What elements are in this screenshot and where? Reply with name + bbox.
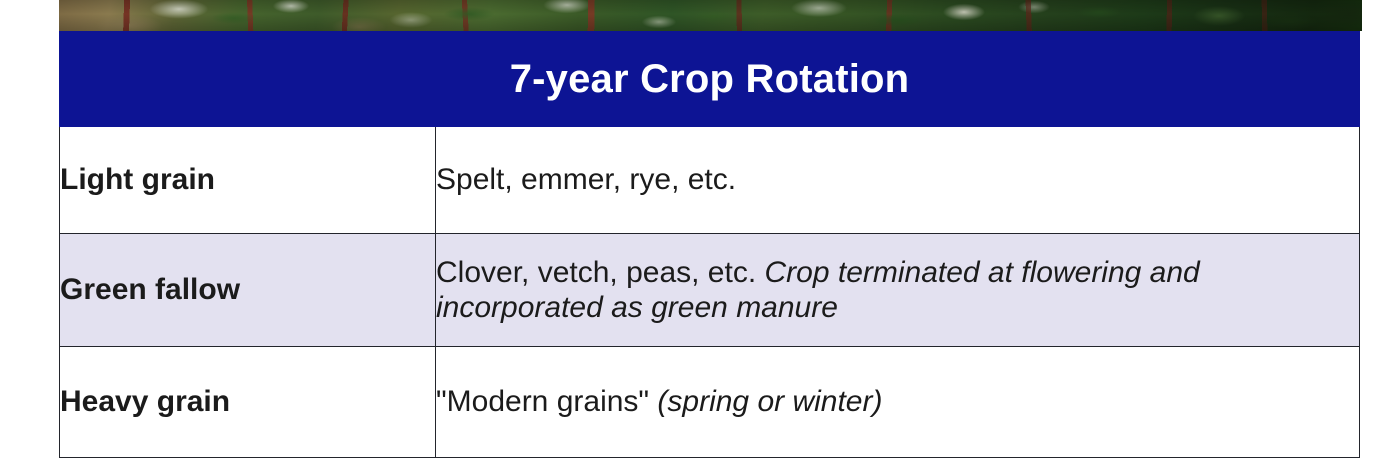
table-title-cell: 7-year Crop Rotation — [60, 32, 1360, 127]
table-row: Heavy grain "Modern grains" (spring or w… — [60, 347, 1360, 458]
row-label-green-fallow: Green fallow — [60, 234, 436, 347]
row-value-italic-note: (spring or winter) — [657, 385, 882, 418]
row-label-light-grain: Light grain — [60, 127, 436, 234]
row-value-light-grain: Spelt, emmer, rye, etc. — [436, 127, 1360, 234]
row-label-heavy-grain: Heavy grain — [60, 347, 436, 458]
photo-shading-layer — [59, 0, 1362, 31]
table-row: Green fallow Clover, vetch, peas, etc. C… — [60, 234, 1360, 347]
page-title: 7-year Crop Rotation — [510, 57, 910, 101]
table-row: Light grain Spelt, emmer, rye, etc. — [60, 127, 1360, 234]
page-root: 7-year Crop Rotation Light grain Spelt, … — [0, 0, 1391, 430]
row-value-plain-text: Clover, vetch, peas, etc. — [436, 256, 756, 289]
text-space — [756, 256, 764, 289]
table-title-row: 7-year Crop Rotation — [60, 32, 1360, 127]
row-value-green-fallow: Clover, vetch, peas, etc. Crop terminate… — [436, 234, 1360, 347]
buckwheat-field-photo-strip — [59, 0, 1362, 31]
crop-rotation-table: 7-year Crop Rotation Light grain Spelt, … — [59, 31, 1360, 458]
row-value-plain-text: Spelt, emmer, rye, etc. — [436, 163, 736, 196]
row-value-plain-text: "Modern grains" — [436, 385, 649, 418]
row-value-heavy-grain: "Modern grains" (spring or winter) — [436, 347, 1360, 458]
